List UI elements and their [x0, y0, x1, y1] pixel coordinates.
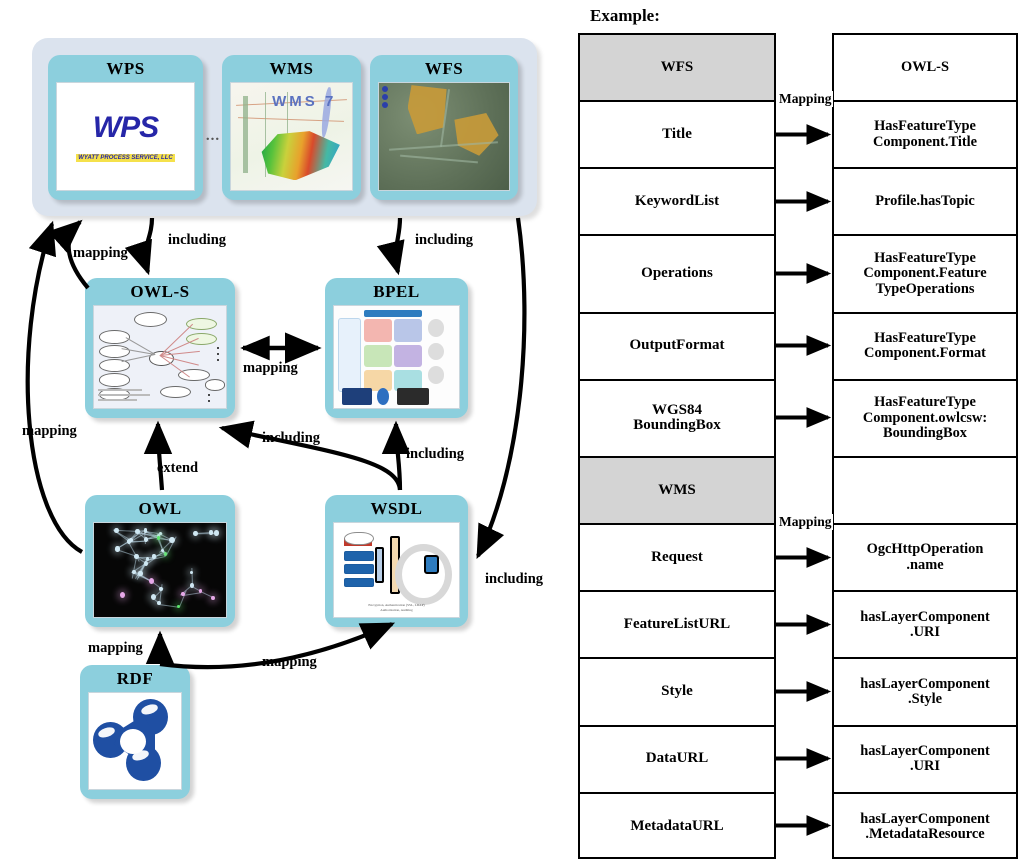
- node-owls[interactable]: OWL-S: [85, 278, 235, 418]
- node-wfs-label: WFS: [370, 59, 518, 79]
- edge-label-including-wps-owls: including: [168, 232, 226, 249]
- architecture-diagram: WPS WPS WYATT PROCESS SERVICE, LLC ... W…: [0, 0, 570, 865]
- node-wms-label: WMS: [222, 59, 361, 79]
- graph-node: [157, 536, 160, 540]
- graph-node: [144, 537, 148, 542]
- node-wfs[interactable]: WFS: [370, 55, 518, 200]
- graph-node: [211, 596, 215, 600]
- graph-node: [169, 537, 174, 543]
- graph-node: [120, 592, 125, 598]
- node-wms[interactable]: WMS WMS 7: [222, 55, 361, 200]
- node-owl[interactable]: OWL: [85, 495, 235, 627]
- edge-label-including-wms-bpel: including: [415, 232, 473, 249]
- example-heading: Example:: [590, 6, 660, 26]
- graph-node: [144, 528, 148, 532]
- mapping-label-wms: Mapping: [778, 514, 833, 530]
- graph-node: [114, 528, 119, 534]
- wfs-aerial-thumbnail: [378, 82, 510, 191]
- edge-label-mapping-rdf-owl: mapping: [88, 640, 143, 657]
- edge-label-extend-owl-owls: extend: [157, 460, 198, 477]
- graph-node: [151, 594, 156, 600]
- node-owl-label: OWL: [85, 499, 235, 519]
- graph-node: [209, 530, 213, 534]
- node-wsdl[interactable]: WSDL Encryption, Authentication (SSL, LD…: [325, 495, 468, 627]
- wps-logo-thumbnail: WPS WYATT PROCESS SERVICE, LLC: [56, 82, 195, 191]
- graph-node: [129, 538, 132, 542]
- edge-label-mapping-rdf-wsdl: mapping: [262, 654, 317, 671]
- edge-label-including-wfs-wsdl: including: [485, 571, 543, 588]
- node-wsdl-label: WSDL: [325, 499, 468, 519]
- node-rdf[interactable]: RDF: [80, 665, 190, 799]
- graph-edge: [159, 604, 179, 608]
- node-bpel[interactable]: BPEL: [325, 278, 468, 418]
- bpel-process-thumbnail: [333, 305, 460, 409]
- services-ellipsis: ...: [204, 128, 222, 145]
- node-wps[interactable]: WPS WPS WYATT PROCESS SERVICE, LLC: [48, 55, 203, 200]
- graph-node: [115, 546, 119, 551]
- rdf-logo-thumbnail: [88, 692, 182, 790]
- mapping-example-table: WFSTitleKeywordListOperationsOutputForma…: [578, 33, 1018, 859]
- edge-label-including-wsdl-bpel: including: [406, 446, 464, 463]
- node-owls-label: OWL-S: [85, 282, 235, 302]
- graph-node: [214, 530, 219, 535]
- edge-label-including-wsdl-owls: including: [262, 430, 320, 447]
- edge-label-mapping-owls-bpel: mapping: [243, 360, 298, 377]
- node-wps-label: WPS: [48, 59, 203, 79]
- owl-network-thumbnail: [93, 522, 227, 618]
- mapping-label-wfs: Mapping: [778, 91, 833, 107]
- graph-node: [193, 531, 197, 536]
- wfs-map-controls-icon: [382, 86, 389, 112]
- graph-node: [190, 583, 194, 588]
- table-mapping-arrows: [578, 33, 1018, 859]
- graph-node: [132, 570, 135, 574]
- edge-label-mapping-owl-wps: mapping: [22, 423, 77, 440]
- edge-label-mapping-owls-wps: mapping: [73, 245, 128, 262]
- node-rdf-label: RDF: [80, 669, 190, 689]
- wsdl-architecture-thumbnail: Encryption, Authentication (SSL, LDAP)Au…: [333, 522, 460, 618]
- wms-map-thumbnail: WMS 7: [230, 82, 353, 191]
- graph-node: [134, 554, 138, 559]
- graph-node: [144, 561, 148, 566]
- graph-node: [135, 529, 139, 534]
- graph-node: [164, 552, 167, 556]
- owls-ontology-thumbnail: [93, 305, 227, 409]
- graph-node: [159, 587, 163, 591]
- graph-node: [177, 605, 180, 609]
- node-bpel-label: BPEL: [325, 282, 468, 302]
- graph-node: [152, 554, 156, 558]
